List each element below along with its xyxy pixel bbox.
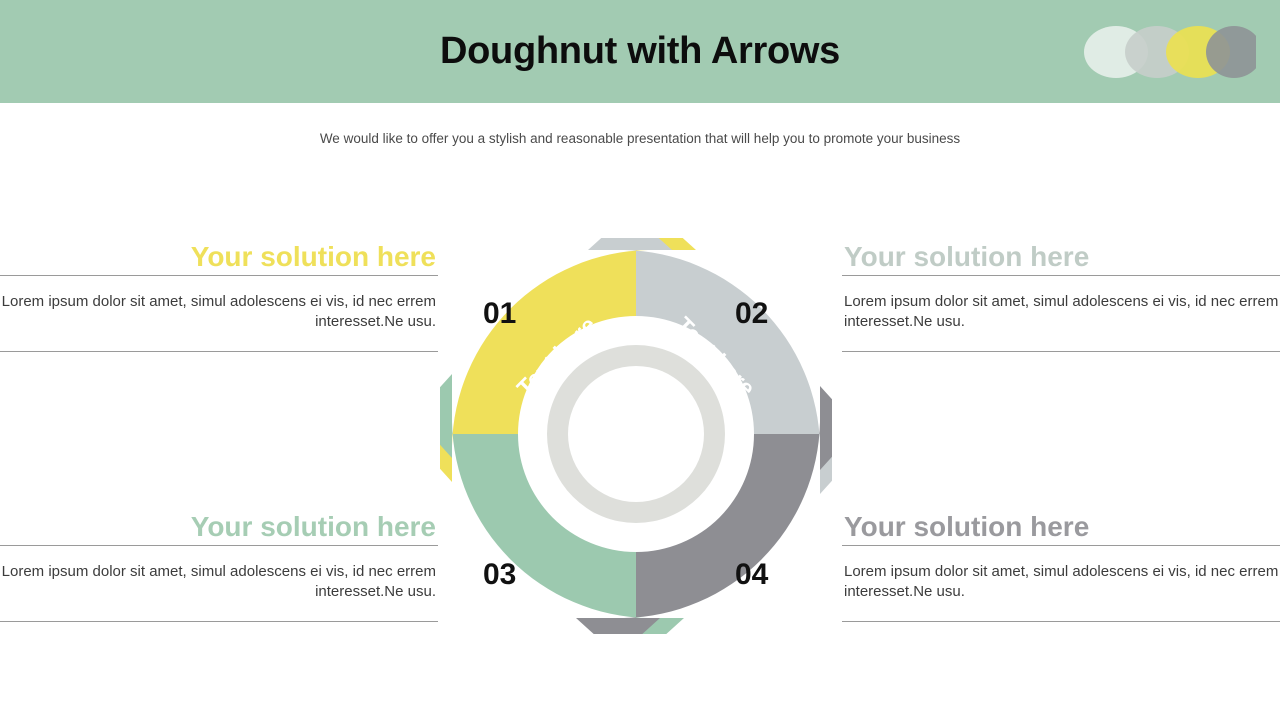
divider-line <box>0 545 438 546</box>
header-decorative-dots <box>1084 26 1256 78</box>
segment-01-number: 01 <box>483 297 516 331</box>
divider-line <box>0 275 438 276</box>
slide-header: Doughnut with Arrows <box>0 0 1280 103</box>
segment-04-number: 04 <box>735 558 768 592</box>
solution-body-text: Lorem ipsum dolor sit amet, simul adoles… <box>0 562 438 600</box>
solution-body-text: Lorem ipsum dolor sit amet, simul adoles… <box>0 292 438 330</box>
slide-subtitle: We would like to offer you a stylish and… <box>0 131 1280 146</box>
divider-line <box>0 621 438 622</box>
solution-block-bottom-left[interactable]: Your solution here Lorem ipsum dolor sit… <box>0 512 438 622</box>
solution-heading: Your solution here <box>842 242 1280 271</box>
solution-heading: Your solution here <box>842 512 1280 541</box>
divider-line <box>842 275 1280 276</box>
solution-block-bottom-right[interactable]: Your solution here Lorem ipsum dolor sit… <box>842 512 1280 622</box>
divider-line <box>0 351 438 352</box>
doughnut-center <box>568 366 704 502</box>
segment-02-number: 02 <box>735 297 768 331</box>
divider-line <box>842 351 1280 352</box>
solution-heading: Your solution here <box>0 242 438 271</box>
solution-body-text: Lorem ipsum dolor sit amet, simul adoles… <box>842 292 1280 330</box>
solution-heading: Your solution here <box>0 512 438 541</box>
divider-line <box>842 621 1280 622</box>
segment-03-number: 03 <box>483 558 516 592</box>
solution-block-top-right[interactable]: Your solution here Lorem ipsum dolor sit… <box>842 242 1280 352</box>
divider-line <box>842 545 1280 546</box>
solution-block-top-left[interactable]: Your solution here Lorem ipsum dolor sit… <box>0 242 438 352</box>
doughnut-arrows-diagram: Text here Text here Text here Text here … <box>440 238 832 634</box>
solution-body-text: Lorem ipsum dolor sit amet, simul adoles… <box>842 562 1280 600</box>
